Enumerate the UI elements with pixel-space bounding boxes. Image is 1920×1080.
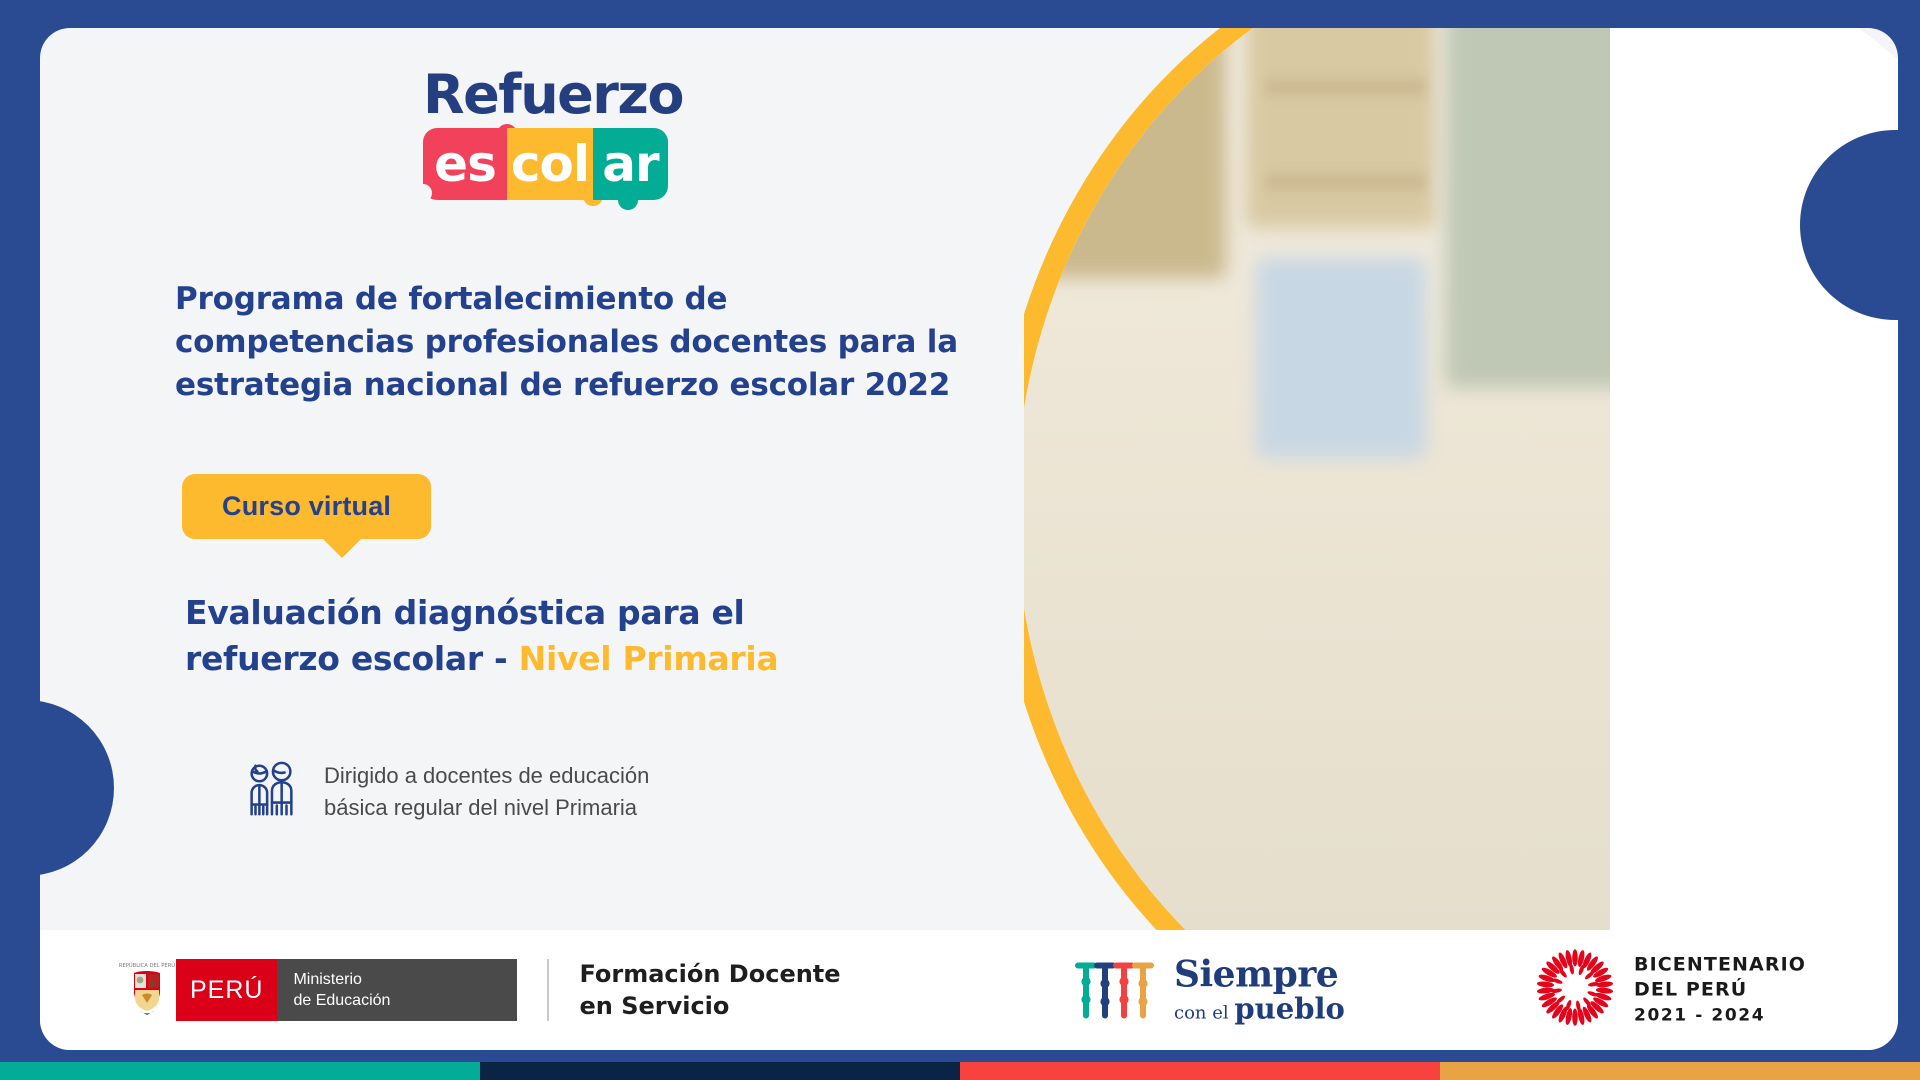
puzzle-notch-icon xyxy=(414,184,432,202)
bicentenario-years: 2021 - 2024 xyxy=(1634,1006,1765,1026)
minedu-logo: REPÚBLICA DEL PERÚ PERÚ xyxy=(118,959,517,1021)
bicentenario-line-2: DEL PERÚ xyxy=(1634,978,1747,1000)
siempre-word-2: con el pueblo xyxy=(1174,995,1345,1024)
puzzle-tab-left-stem xyxy=(0,700,20,876)
audience-line-2: básica regular del nivel Primaria xyxy=(324,795,637,820)
audience-line-1: Dirigido a docentes de educación xyxy=(324,763,649,788)
ministry-line-1: Ministerio xyxy=(293,969,495,990)
fds-line-2: en Servicio xyxy=(579,992,729,1020)
colorbar-segment-teal xyxy=(0,1062,480,1080)
siempre-wordmark: Siempre con el pueblo xyxy=(1174,957,1345,1024)
bottom-color-bar xyxy=(0,1062,1920,1080)
logo-piece-col: col xyxy=(507,128,593,200)
course-title: Evaluación diagnóstica para el refuerzo … xyxy=(185,590,885,682)
blue-folder xyxy=(1637,863,1898,930)
bicentenario-logo: BICENTENARIO DEL PERÚ 2021 - 2024 xyxy=(1536,949,1806,1032)
bicentenario-sunburst-icon xyxy=(1536,949,1614,1032)
ministry-label: Ministerio de Educación xyxy=(277,959,517,1021)
footer-divider xyxy=(547,959,549,1021)
logo-piece-es-label: es xyxy=(434,135,496,193)
footer-bar: REPÚBLICA DEL PERÚ PERÚ xyxy=(40,930,1898,1050)
siempre-con-el: con el xyxy=(1174,1003,1234,1024)
logo-piece-col-label: col xyxy=(511,135,589,193)
programa-formacion-docente: Formación Docente en Servicio xyxy=(579,958,840,1022)
logo-piece-es: es xyxy=(423,128,507,200)
peru-coat-of-arms-icon: REPÚBLICA DEL PERÚ xyxy=(118,959,176,1021)
colorbar-segment-red xyxy=(960,1062,1440,1080)
audience-text: Dirigido a docentes de educación básica … xyxy=(324,760,649,822)
audience-block: Dirigido a docentes de educación básica … xyxy=(240,758,649,825)
bicentenario-text: BICENTENARIO DEL PERÚ 2021 - 2024 xyxy=(1634,952,1806,1027)
hero-photo-zone xyxy=(1024,28,1898,930)
banner-root: Refuerzo es col ar xyxy=(0,0,1920,1080)
siempre-pueblo: pueblo xyxy=(1234,992,1344,1026)
chakitaqlla-tools-icon xyxy=(1074,959,1160,1021)
siempre-word-1: Siempre xyxy=(1174,957,1345,993)
curso-virtual-badge: Curso virtual xyxy=(182,474,431,539)
logo-wordmark-refuerzo: Refuerzo xyxy=(423,68,668,122)
bicentenario-line-1: BICENTENARIO xyxy=(1634,953,1806,975)
fds-line-1: Formación Docente xyxy=(579,960,840,988)
content-card: Refuerzo es col ar xyxy=(40,28,1898,1050)
refuerzo-escolar-logo: Refuerzo es col ar xyxy=(423,68,668,200)
logo-puzzle-row: es col ar xyxy=(423,128,668,200)
svg-text:REPÚBLICA DEL PERÚ: REPÚBLICA DEL PERÚ xyxy=(119,962,175,969)
colorbar-segment-navy xyxy=(480,1062,960,1080)
puzzle-knob-icon xyxy=(618,190,638,210)
curso-virtual-badge-wrap: Curso virtual xyxy=(182,474,431,539)
hero-photo xyxy=(1024,28,1898,930)
peru-label: PERÚ xyxy=(176,959,277,1021)
two-people-icon xyxy=(240,758,302,825)
logo-piece-ar-label: ar xyxy=(602,135,658,193)
program-headline: Programa de fortalecimiento de competenc… xyxy=(175,278,965,406)
siempre-con-el-pueblo-logo: Siempre con el pueblo xyxy=(1074,957,1345,1024)
footer-left-group: REPÚBLICA DEL PERÚ PERÚ xyxy=(40,958,841,1022)
ministry-line-2: de Educación xyxy=(293,990,495,1011)
logo-piece-ar: ar xyxy=(593,128,668,200)
badge-tail-icon xyxy=(320,536,364,558)
colorbar-segment-amber xyxy=(1440,1062,1920,1080)
left-content-column: Refuerzo es col ar xyxy=(40,28,1040,930)
course-title-highlight: Nivel Primaria xyxy=(519,639,779,678)
